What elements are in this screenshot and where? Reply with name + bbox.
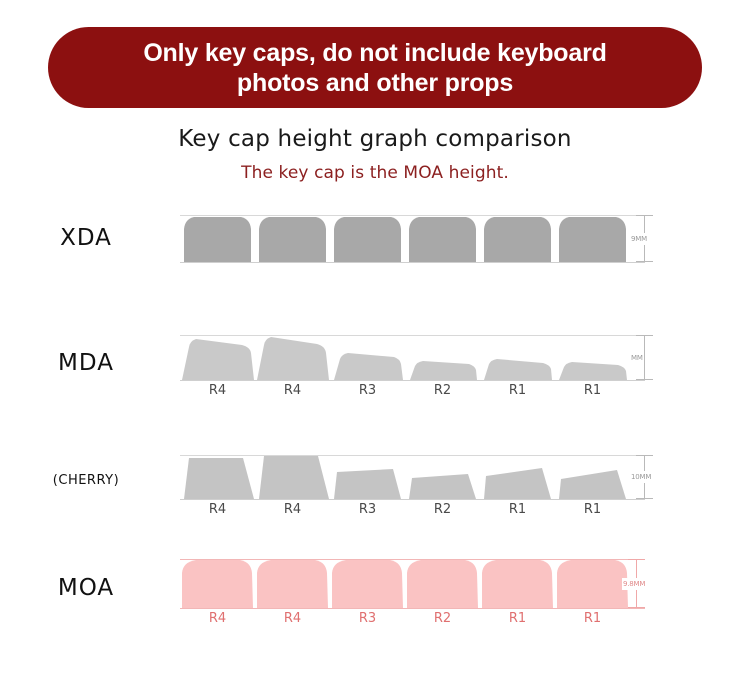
mda-row-label: R4: [180, 383, 255, 398]
cherry-row-labels: R4 R4 R3 R2 R1 R1: [180, 502, 630, 517]
moa-height-value: 9.8MM: [622, 578, 646, 590]
moa-keycap-plot: [180, 559, 630, 608]
moa-baseline: [180, 608, 645, 609]
notice-banner: Only key caps, do not include keyboard p…: [48, 27, 702, 108]
xda-baseline: [180, 262, 645, 263]
moa-row-label: R3: [330, 611, 405, 626]
moa-row-label: R1: [555, 611, 630, 626]
mda-baseline: [180, 380, 645, 381]
cherry-row-label: R1: [480, 502, 555, 517]
cherry-baseline: [180, 499, 645, 500]
mda-row-label: R1: [480, 383, 555, 398]
banner-line-2: photos and other props: [237, 68, 513, 98]
mda-row-label: R1: [555, 383, 630, 398]
mda-height-dimension: MM: [628, 335, 662, 380]
mda-dim-bar: [644, 335, 645, 380]
page-subtitle: The key cap is the MOA height.: [0, 163, 750, 183]
xda-height-dimension: 9MM: [628, 215, 662, 262]
mda-row-label: R2: [405, 383, 480, 398]
profile-name-cherry: (CHERRY): [0, 473, 172, 488]
moa-row-labels: R4 R4 R3 R2 R1 R1: [180, 611, 630, 626]
cherry-row-label: R4: [180, 502, 255, 517]
cherry-height-dimension: 10MM: [628, 455, 662, 499]
cherry-dim-tick-bottom: [636, 498, 653, 499]
moa-dim-tick-bottom: [628, 607, 645, 608]
moa-row-label: R1: [480, 611, 555, 626]
mda-keycap-plot: [180, 335, 630, 380]
page-title: Key cap height graph comparison: [0, 126, 750, 152]
xda-height-value: 9MM: [630, 233, 648, 245]
cherry-keycaps-svg: [180, 455, 630, 499]
cherry-row-label: R4: [255, 502, 330, 517]
mda-keycaps-svg: [180, 335, 630, 380]
profile-name-mda: MDA: [0, 350, 172, 376]
mda-dim-tick-bottom: [636, 379, 653, 380]
banner-line-1: Only key caps, do not include keyboard: [143, 38, 606, 68]
mda-height-value: MM: [630, 352, 644, 364]
profile-name-xda: XDA: [0, 225, 172, 251]
xda-keycap-plot: [180, 215, 630, 262]
profile-name-moa: MOA: [0, 575, 172, 601]
moa-row-label: R2: [405, 611, 480, 626]
moa-keycaps-svg: [180, 559, 630, 608]
mda-row-label: R4: [255, 383, 330, 398]
cherry-row-label: R3: [330, 502, 405, 517]
moa-row-label: R4: [180, 611, 255, 626]
cherry-row-label: R1: [555, 502, 630, 517]
moa-row-label: R4: [255, 611, 330, 626]
mda-row-labels: R4 R4 R3 R2 R1 R1: [180, 383, 630, 398]
mda-row-label: R3: [330, 383, 405, 398]
xda-keycaps-svg: [180, 215, 630, 262]
cherry-height-value: 10MM: [630, 471, 652, 483]
xda-dim-tick-bottom: [636, 261, 653, 262]
cherry-row-label: R2: [405, 502, 480, 517]
cherry-keycap-plot: [180, 455, 630, 499]
moa-height-dimension: 9.8MM: [620, 559, 654, 608]
